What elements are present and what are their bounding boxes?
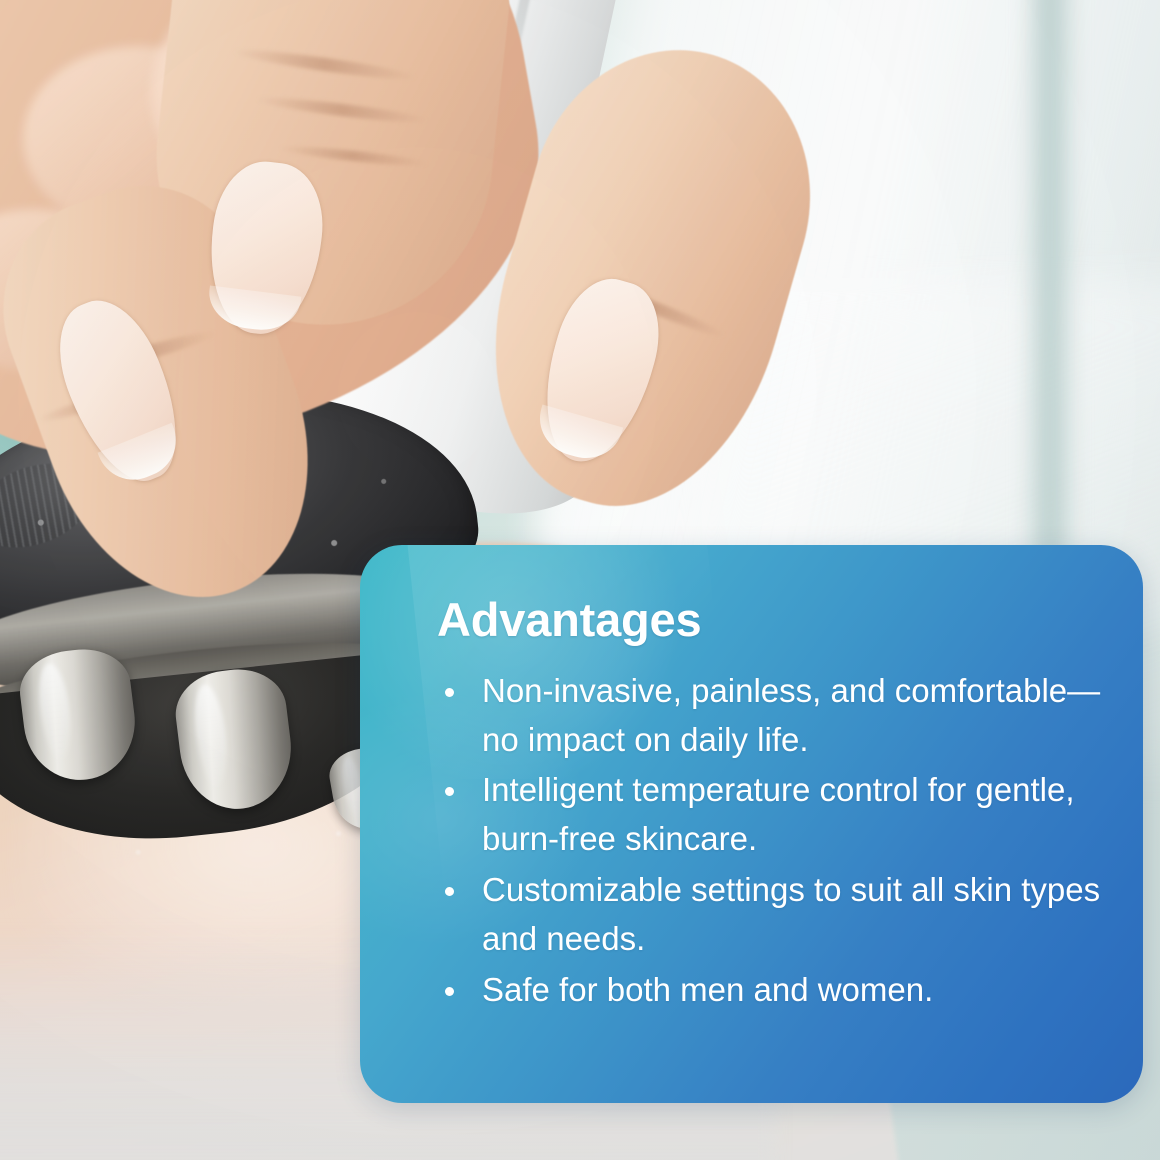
- list-item-text: Customizable settings to suit all skin t…: [482, 871, 1100, 957]
- card-title: Advantages: [437, 595, 1107, 645]
- bullet-dot-icon: [445, 688, 454, 697]
- bullet-dot-icon: [445, 987, 454, 996]
- list-item-text: Non-invasive, painless, and comfortable—…: [482, 672, 1100, 758]
- list-item: Safe for both men and women.: [437, 966, 1107, 1015]
- advantages-card: Advantages Non-invasive, painless, and c…: [360, 545, 1143, 1103]
- list-item-text: Safe for both men and women.: [482, 971, 933, 1008]
- list-item-text: Intelligent temperature control for gent…: [482, 771, 1075, 857]
- bullet-dot-icon: [445, 787, 454, 796]
- list-item: Customizable settings to suit all skin t…: [437, 866, 1107, 964]
- list-item: Non-invasive, painless, and comfortable—…: [437, 667, 1107, 765]
- bullet-dot-icon: [445, 887, 454, 896]
- poster-canvas: Advantages Non-invasive, painless, and c…: [0, 0, 1160, 1160]
- advantages-list: Non-invasive, painless, and comfortable—…: [437, 667, 1107, 1015]
- card-content: Advantages Non-invasive, painless, and c…: [360, 545, 1143, 1015]
- list-item: Intelligent temperature control for gent…: [437, 766, 1107, 864]
